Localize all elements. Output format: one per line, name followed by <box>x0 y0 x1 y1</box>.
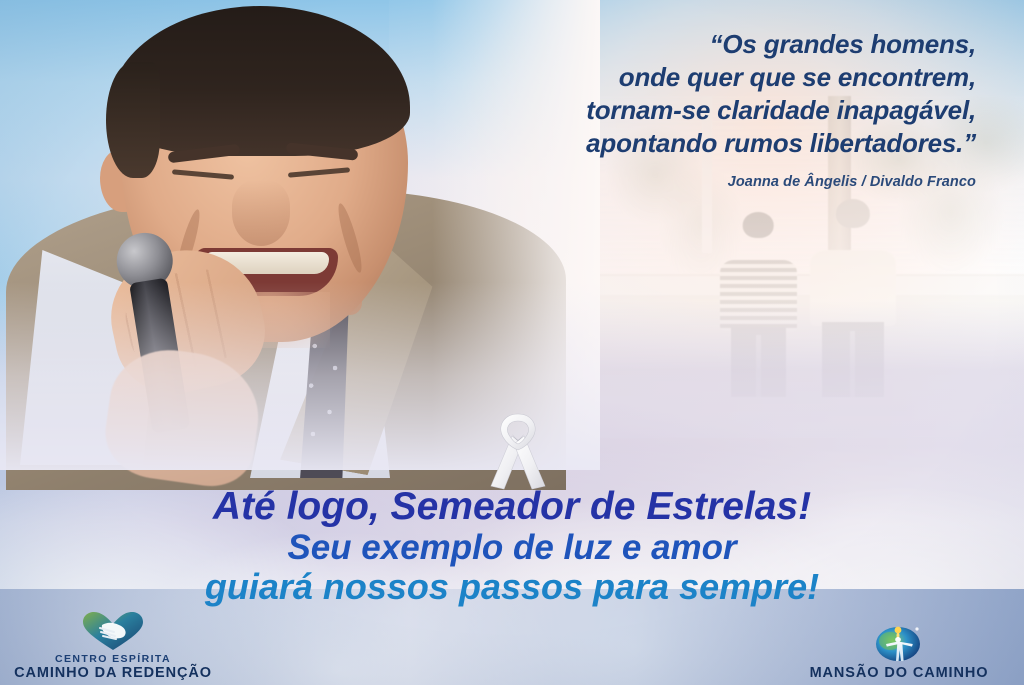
mourning-ribbon-icon <box>482 410 554 490</box>
quote-line-4: apontando rumos libertadores.” <box>376 127 976 160</box>
headline-line-1: Até logo, Semeador de Estrelas! <box>0 486 1024 528</box>
headline-line-3: guiará nossos passos para sempre! <box>0 567 1024 607</box>
logo-centro-espirita-line-2: CAMINHO DA REDENÇÃO <box>8 665 218 681</box>
logo-mansao-do-caminho[interactable]: MANSÃO DO CAMINHO <box>784 621 1014 681</box>
logo-mansao-do-caminho-label: MANSÃO DO CAMINHO <box>784 665 1014 681</box>
quote-attribution: Joanna de Ângelis / Divaldo Franco <box>376 174 976 190</box>
quote-line-3: tornam-se claridade inapagável, <box>376 94 976 127</box>
quote-line-1: “Os grandes homens, <box>376 28 976 61</box>
logo-centro-espirita[interactable]: CENTRO ESPÍRITA CAMINHO DA REDENÇÃO <box>8 611 218 681</box>
headline-block: Até logo, Semeador de Estrelas! Seu exem… <box>0 486 1024 607</box>
quote-block: “Os grandes homens, onde quer que se enc… <box>376 28 976 190</box>
globe-figure-icon <box>872 621 926 663</box>
memorial-poster: “Os grandes homens, onde quer que se enc… <box>0 0 1024 685</box>
headline-line-2: Seu exemplo de luz e amor <box>0 528 1024 567</box>
logo-centro-espirita-line-1: CENTRO ESPÍRITA <box>8 653 218 665</box>
quote-line-2: onde quer que se encontrem, <box>376 61 976 94</box>
heart-hands-icon <box>80 611 146 651</box>
